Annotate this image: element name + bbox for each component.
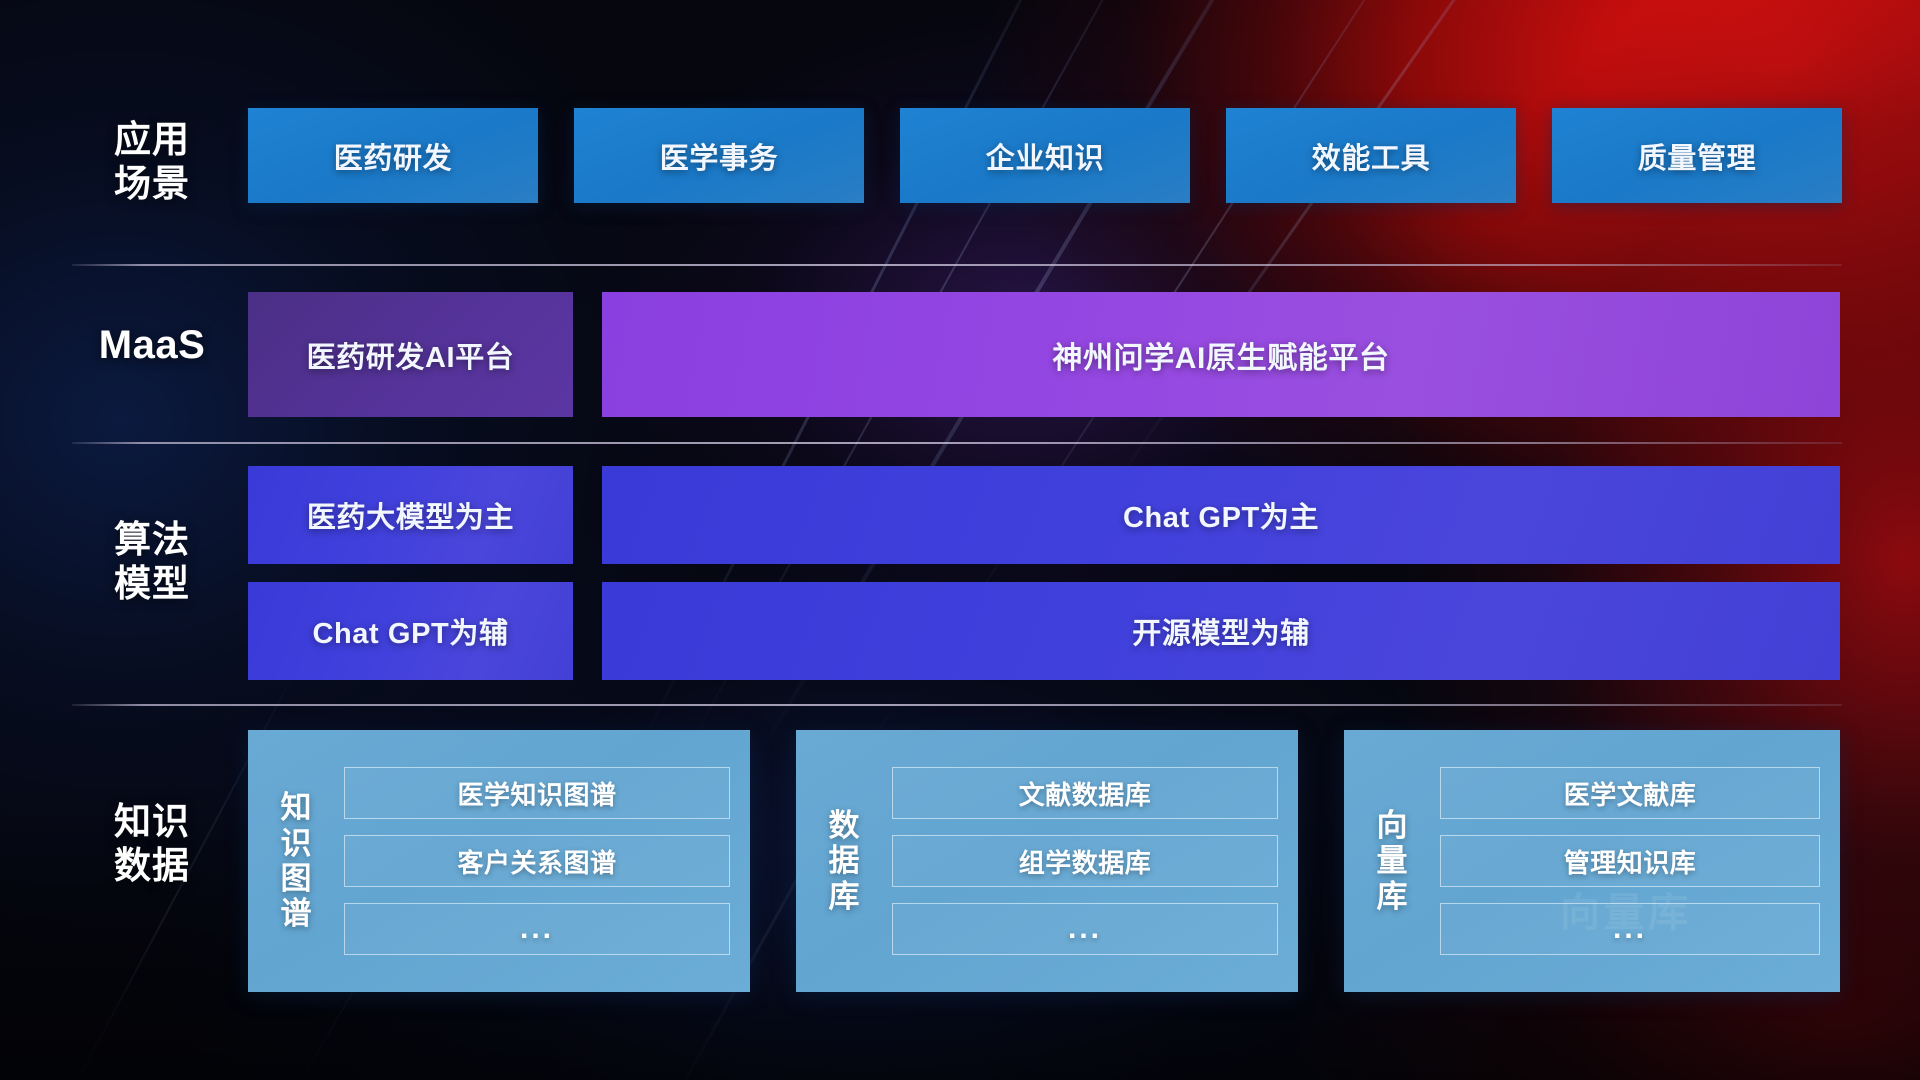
architecture-diagram: 应用 场景 医药研发 医学事务 企业知识 效能工具 质量管理 MaaS 医药研发… bbox=[0, 0, 1920, 1080]
knowledge-group-3-items: 医学文献库 管理知识库 ... bbox=[1440, 753, 1840, 969]
row-label-application: 应用 场景 bbox=[72, 118, 232, 205]
knowledge-group-database[interactable]: 数 据 库 文献数据库 组学数据库 ... bbox=[796, 730, 1298, 992]
application-card-1[interactable]: 医药研发 bbox=[248, 108, 538, 203]
knowledge-group-1-items: 医学知识图谱 客户关系图谱 ... bbox=[344, 753, 750, 969]
algorithm-left-card-1[interactable]: 医药大模型为主 bbox=[248, 466, 573, 564]
divider-maas-algorithm bbox=[72, 442, 1842, 444]
knowledge-item-1-2[interactable]: 客户关系图谱 bbox=[344, 835, 730, 887]
algorithm-right-card-2[interactable]: 开源模型为辅 bbox=[602, 582, 1840, 680]
knowledge-item-2-3[interactable]: ... bbox=[892, 903, 1278, 955]
knowledge-group-2-title: 数 据 库 bbox=[796, 808, 892, 914]
divider-application-maas bbox=[72, 264, 1842, 266]
knowledge-item-3-2[interactable]: 管理知识库 bbox=[1440, 835, 1820, 887]
algorithm-left-card-2[interactable]: Chat GPT为辅 bbox=[248, 582, 573, 680]
divider-algorithm-knowledge bbox=[72, 704, 1842, 706]
application-card-2[interactable]: 医学事务 bbox=[574, 108, 864, 203]
row-label-algorithm: 算法 模型 bbox=[72, 518, 232, 605]
knowledge-group-vector-store[interactable]: 向 量 库 医学文献库 管理知识库 ... bbox=[1344, 730, 1840, 992]
knowledge-item-1-1[interactable]: 医学知识图谱 bbox=[344, 767, 730, 819]
application-card-4[interactable]: 效能工具 bbox=[1226, 108, 1516, 203]
knowledge-item-1-3[interactable]: ... bbox=[344, 903, 730, 955]
row-label-knowledge: 知识 数据 bbox=[72, 800, 232, 887]
maas-platform-card[interactable]: 医药研发AI平台 bbox=[248, 292, 573, 417]
algorithm-right-card-1[interactable]: Chat GPT为主 bbox=[602, 466, 1840, 564]
knowledge-item-2-1[interactable]: 文献数据库 bbox=[892, 767, 1278, 819]
knowledge-group-2-items: 文献数据库 组学数据库 ... bbox=[892, 753, 1298, 969]
knowledge-group-1-title: 知 识 图 谱 bbox=[248, 790, 344, 931]
knowledge-item-3-3[interactable]: ... bbox=[1440, 903, 1820, 955]
maas-enablement-platform-card[interactable]: 神州问学AI原生赋能平台 bbox=[602, 292, 1840, 417]
row-label-maas: MaaS bbox=[72, 322, 232, 369]
knowledge-item-3-1[interactable]: 医学文献库 bbox=[1440, 767, 1820, 819]
knowledge-group-knowledge-graph[interactable]: 知 识 图 谱 医学知识图谱 客户关系图谱 ... bbox=[248, 730, 750, 992]
knowledge-item-2-2[interactable]: 组学数据库 bbox=[892, 835, 1278, 887]
application-card-5[interactable]: 质量管理 bbox=[1552, 108, 1842, 203]
application-card-3[interactable]: 企业知识 bbox=[900, 108, 1190, 203]
knowledge-group-3-title: 向 量 库 bbox=[1344, 808, 1440, 914]
